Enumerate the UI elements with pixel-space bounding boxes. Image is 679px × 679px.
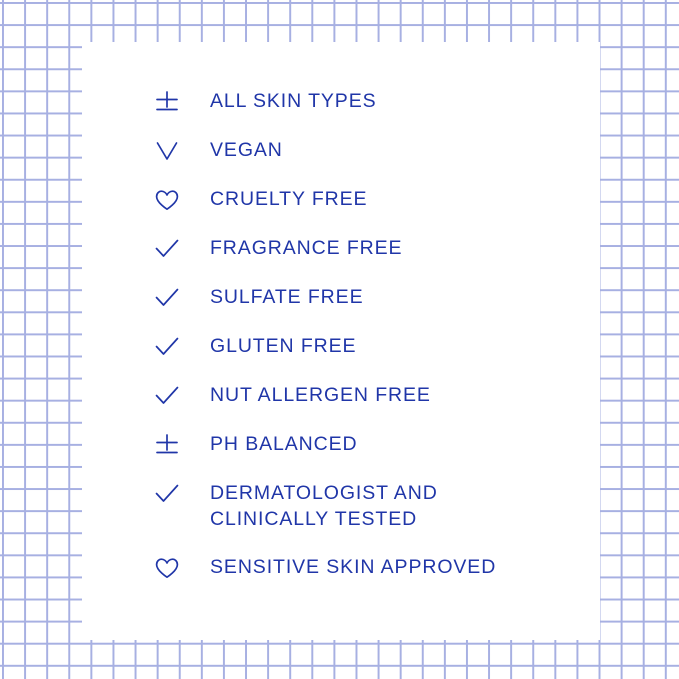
list-item-label: SULFATE FREE bbox=[194, 284, 584, 310]
list-item: GLUTEN FREE bbox=[154, 333, 584, 382]
list-item-label: SENSITIVE SKIN APPROVED bbox=[194, 554, 584, 580]
list-item: CRUELTY FREE bbox=[154, 186, 584, 235]
list-item-label: PH BALANCED bbox=[194, 431, 584, 457]
list-item: ALL SKIN TYPES bbox=[154, 88, 584, 137]
check-icon bbox=[154, 480, 194, 508]
check-icon bbox=[154, 333, 194, 361]
list-item: DERMATOLOGIST AND CLINICALLY TESTED bbox=[154, 480, 584, 554]
heart-icon bbox=[154, 186, 194, 214]
list-item-label: DERMATOLOGIST AND CLINICALLY TESTED bbox=[194, 480, 584, 532]
plus-minus-icon bbox=[154, 431, 194, 459]
claims-list: ALL SKIN TYPES VEGAN CRUELTY FREE bbox=[154, 88, 584, 603]
list-item: SENSITIVE SKIN APPROVED bbox=[154, 554, 584, 603]
product-claims-card: ALL SKIN TYPES VEGAN CRUELTY FREE bbox=[0, 0, 679, 679]
check-icon bbox=[154, 235, 194, 263]
list-item: NUT ALLERGEN FREE bbox=[154, 382, 584, 431]
list-item-label: ALL SKIN TYPES bbox=[194, 88, 584, 114]
list-item: VEGAN bbox=[154, 137, 584, 186]
heart-icon bbox=[154, 554, 194, 582]
list-item: SULFATE FREE bbox=[154, 284, 584, 333]
list-item-label: FRAGRANCE FREE bbox=[194, 235, 584, 261]
list-item-label: GLUTEN FREE bbox=[194, 333, 584, 359]
list-item-label: VEGAN bbox=[194, 137, 584, 163]
v-leaf-icon bbox=[154, 137, 194, 165]
white-content-panel: ALL SKIN TYPES VEGAN CRUELTY FREE bbox=[82, 42, 600, 640]
plus-minus-icon bbox=[154, 88, 194, 116]
check-icon bbox=[154, 382, 194, 410]
list-item: PH BALANCED bbox=[154, 431, 584, 480]
list-item-label: CRUELTY FREE bbox=[194, 186, 584, 212]
list-item: FRAGRANCE FREE bbox=[154, 235, 584, 284]
check-icon bbox=[154, 284, 194, 312]
list-item-label: NUT ALLERGEN FREE bbox=[194, 382, 584, 408]
